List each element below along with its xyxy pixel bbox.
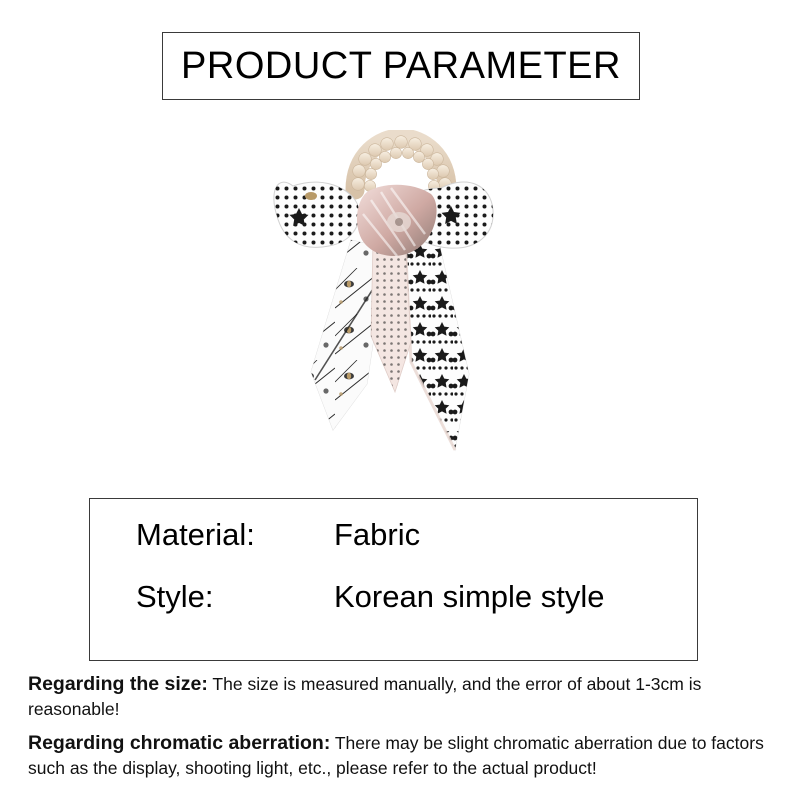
parameter-table: Material: Fabric Style: Korean simple st… [89, 498, 698, 661]
parameter-label-material: Material: [136, 519, 334, 550]
scarf-bow-hair-tie-icon [255, 130, 545, 490]
disclaimer-notes: Regarding the size: The size is measured… [28, 672, 776, 790]
note-chromatic-aberration: Regarding chromatic aberration: There ma… [28, 731, 776, 780]
note-size-label: Regarding the size: [28, 673, 208, 695]
parameter-row-style: Style: Korean simple style [136, 581, 687, 643]
pearl-ring-icon [352, 136, 452, 192]
page-title: PRODUCT PARAMETER [181, 47, 621, 85]
parameter-value-material: Fabric [334, 519, 420, 550]
page-title-box: PRODUCT PARAMETER [162, 32, 640, 100]
product-image [255, 130, 545, 490]
note-chromatic-aberration-label: Regarding chromatic aberration: [28, 732, 330, 754]
parameter-value-style: Korean simple style [334, 581, 605, 612]
parameter-label-style: Style: [136, 581, 334, 612]
note-size: Regarding the size: The size is measured… [28, 672, 776, 721]
parameter-row-material: Material: Fabric [136, 519, 687, 581]
